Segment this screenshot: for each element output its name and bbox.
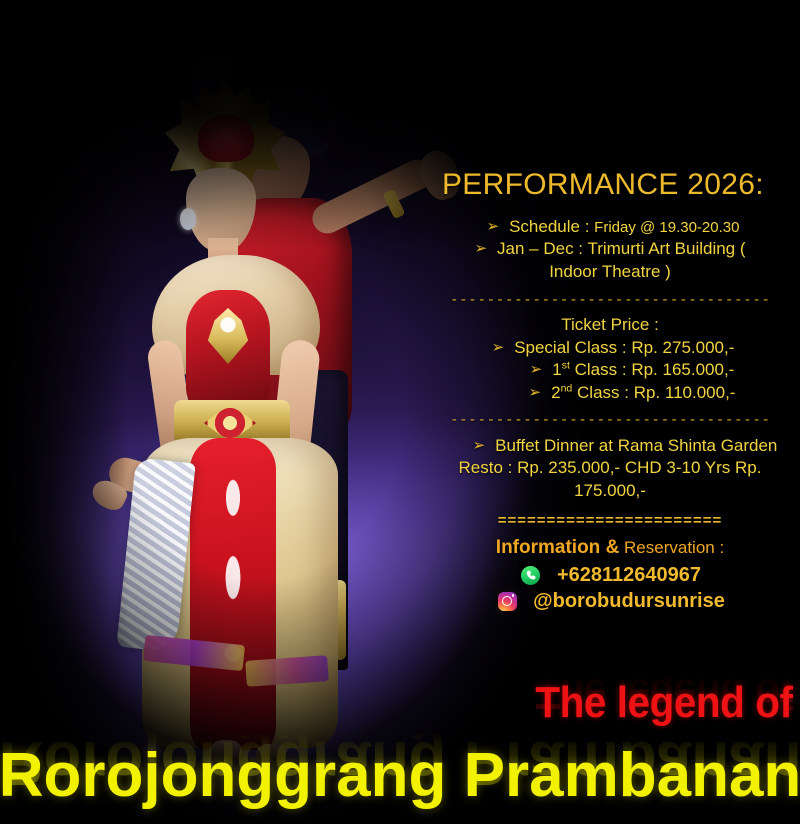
buffet-block: ➢ Buffet Dinner at Rama Shinta Garden Re… [420,435,800,503]
arrow-bullet-icon: ➢ [530,362,543,377]
ticket-special-text: Special Class : Rp. 275.000,- [514,337,734,359]
contact-title: Information & Reservation : [420,537,800,559]
arrow-bullet-icon: ➢ [474,241,487,256]
ticket-second-text: 2nd Class : Rp. 110.000,- [551,382,735,404]
whatsapp-row[interactable]: +628112640967 [420,563,800,587]
ticket-row-special: ➢ Special Class : Rp. 275.000,- [420,337,800,359]
ticket-price-title: Ticket Price : [420,314,800,337]
main-title: Rorojonggrang Prambanan [0,740,800,811]
ticket-row-second: ➢ 2nd Class : Rp. 110.000,- [420,382,800,404]
buffet-line-1: Buffet Dinner at Rama Shinta Garden [495,435,777,457]
arrow-bullet-icon: ➢ [492,340,505,355]
instagram-icon[interactable] [495,589,519,613]
schedule-text: Schedule : Friday @ 19.30-20.30 [509,216,739,238]
arrow-bullet-icon: ➢ [529,385,542,400]
contact-title-bold: Information & [496,537,620,558]
season-line-2: Indoor Theatre ) [420,261,800,284]
whatsapp-icon-handset [526,570,536,580]
season-line-1: Jan – Dec : Trimurti Art Building ( [497,238,745,260]
ticket-first-text: 1st Class : Rp. 165.000,- [552,359,734,381]
season-row: ➢ Jan – Dec : Trimurti Art Building ( [420,238,800,260]
buffet-row: ➢ Buffet Dinner at Rama Shinta Garden [420,435,800,457]
ticket-row-first: ➢ 1st Class : Rp. 165.000,- [420,359,800,381]
schedule-row: ➢ Schedule : Friday @ 19.30-20.30 [420,216,800,238]
separator-dashed-top: - - - - - - - - - - - - - - - - - - - - … [420,292,800,309]
arrow-bullet-icon: ➢ [473,438,486,453]
whatsapp-icon[interactable] [519,563,543,587]
instagram-row[interactable]: @borobudursunrise [420,589,800,613]
legend-label: The legend of [535,678,792,728]
whatsapp-number[interactable]: +628112640967 [557,564,701,587]
separator-dashed-bottom: - - - - - - - - - - - - - - - - - - - - … [420,412,800,429]
poster-canvas: PERFORMANCE 2026: ➢ Schedule : Friday @ … [0,0,800,824]
contact-block: Information & Reservation : +62811264096… [420,537,800,613]
ordinal-suffix: st [562,360,570,372]
instagram-icon-square [498,592,517,611]
instagram-icon-dot [512,594,514,596]
contact-title-regular: Reservation : [619,538,724,557]
arrow-bullet-icon: ➢ [487,219,500,234]
ordinal-suffix: nd [561,382,573,394]
buffet-line-3: 175.000,- [420,480,800,503]
page-title: PERFORMANCE 2026: [420,168,800,202]
ticket-block: Ticket Price : ➢ Special Class : Rp. 275… [420,314,800,404]
buffet-line-2: Resto : Rp. 235.000,- CHD 3-10 Yrs Rp. [420,457,800,480]
schedule-value: Friday @ 19.30-20.30 [594,219,739,236]
separator-equals: ======================= [420,513,800,530]
whatsapp-icon-circle [521,566,540,585]
info-panel: PERFORMANCE 2026: ➢ Schedule : Friday @ … [420,168,800,615]
instagram-icon-lens [502,596,512,606]
schedule-block: ➢ Schedule : Friday @ 19.30-20.30 ➢ Jan … [420,216,800,284]
instagram-handle[interactable]: @borobudursunrise [533,590,725,613]
